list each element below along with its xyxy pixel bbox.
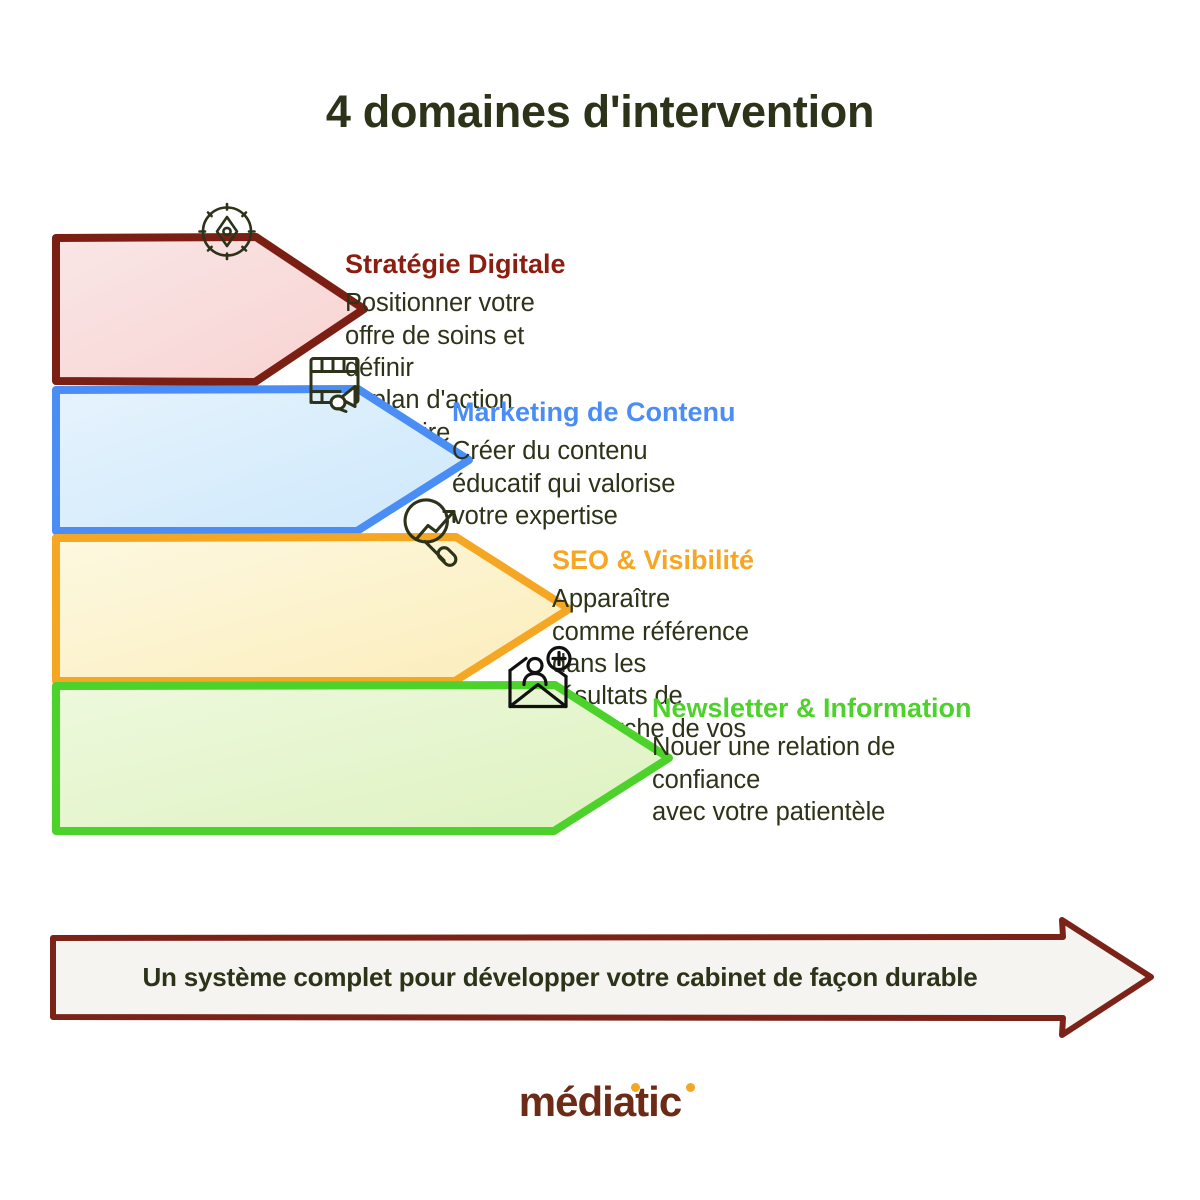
domain-title: Stratégie Digitale: [345, 250, 566, 278]
domain-title: Newsletter & Information: [652, 694, 972, 722]
domain-description-line1: Nouer une relation de confiance: [652, 733, 895, 793]
search-trend-icon: [400, 494, 476, 575]
domain-description-line2: avec votre patientèle: [652, 798, 885, 826]
brand-logo-label: médiatic: [519, 1078, 681, 1125]
brand-logo-text: médiatic: [519, 1078, 681, 1126]
film-megaphone-icon: [300, 347, 374, 426]
domain-text-4: Newsletter & Information Nouer une relat…: [652, 694, 972, 828]
logo-dot-i2: [686, 1083, 695, 1092]
arrow-shape-3: [52, 534, 577, 686]
logo-dot-i1: [631, 1083, 640, 1092]
compass-icon: [192, 197, 262, 272]
domain-description-line2: votre expertise: [452, 502, 618, 530]
domain-text-2: Marketing de Contenu Créer du contenu éd…: [452, 398, 736, 532]
envelope-add-person-icon: [502, 641, 582, 724]
domain-title: Marketing de Contenu: [452, 398, 736, 426]
domain-description: Créer du contenu éducatif qui valorise v…: [452, 435, 736, 532]
summary-banner-label: Un système complet pour développer votre…: [50, 915, 1070, 1040]
domain-description: Nouer une relation de confiance avec vot…: [652, 731, 972, 828]
domain-description-line1: Créer du contenu éducatif qui valorise: [452, 437, 675, 497]
arrow-shape-4: [52, 682, 677, 836]
domain-title: SEO & Visibilité: [552, 546, 754, 574]
brand-logo: médiatic: [0, 1078, 1200, 1126]
summary-banner: Un système complet pour développer votre…: [50, 915, 1155, 1040]
